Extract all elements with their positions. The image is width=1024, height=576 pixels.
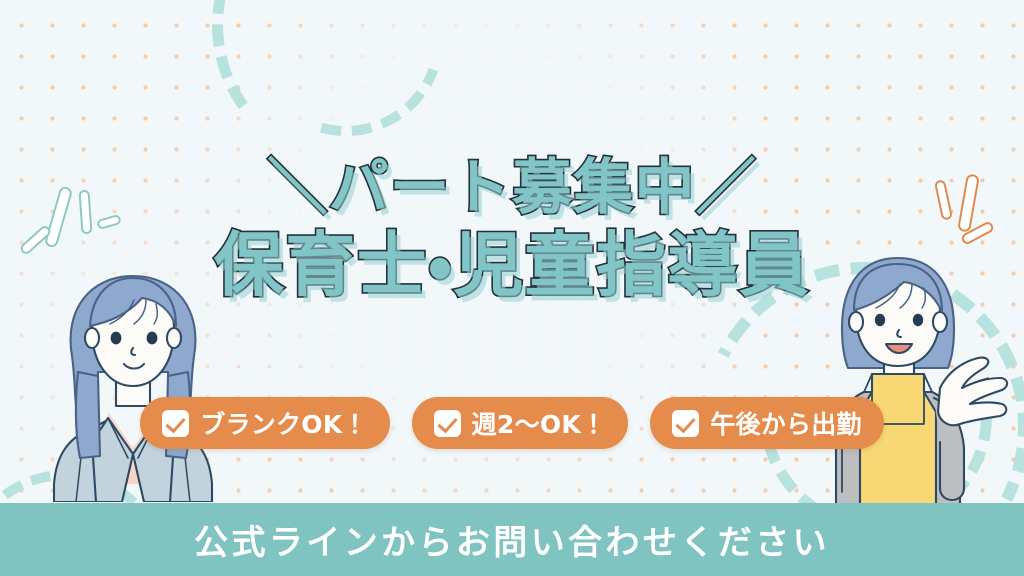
headline-block: ＼パート募集中／ 保育士・児童指導員 <box>0 158 1024 300</box>
badge-afternoon-shift[interactable]: 午後から出勤 <box>650 397 884 449</box>
check-icon <box>162 410 189 437</box>
check-icon <box>434 410 461 437</box>
headline-line-2: 保育士・児童指導員 <box>0 230 1024 300</box>
recruitment-banner: ＼パート募集中／ 保育士・児童指導員 ブランクOK！ 週2〜OK！ 午後から出勤… <box>0 0 1024 576</box>
badge-blank-ok[interactable]: ブランクOK！ <box>140 397 389 449</box>
check-icon <box>672 410 699 437</box>
footer-cta-text: 公式ラインからお問い合わせください <box>194 515 830 564</box>
badge-two-days-week[interactable]: 週2〜OK！ <box>412 397 629 449</box>
badge-label: 週2〜OK！ <box>472 405 607 441</box>
badge-label: 午後から出勤 <box>710 405 862 441</box>
footer-cta-bar[interactable]: 公式ラインからお問い合わせください <box>0 503 1024 576</box>
feature-badge-list: ブランクOK！ 週2〜OK！ 午後から出勤 <box>0 397 1024 449</box>
badge-label: ブランクOK！ <box>200 405 367 441</box>
headline-line-1: ＼パート募集中／ <box>0 158 1024 218</box>
